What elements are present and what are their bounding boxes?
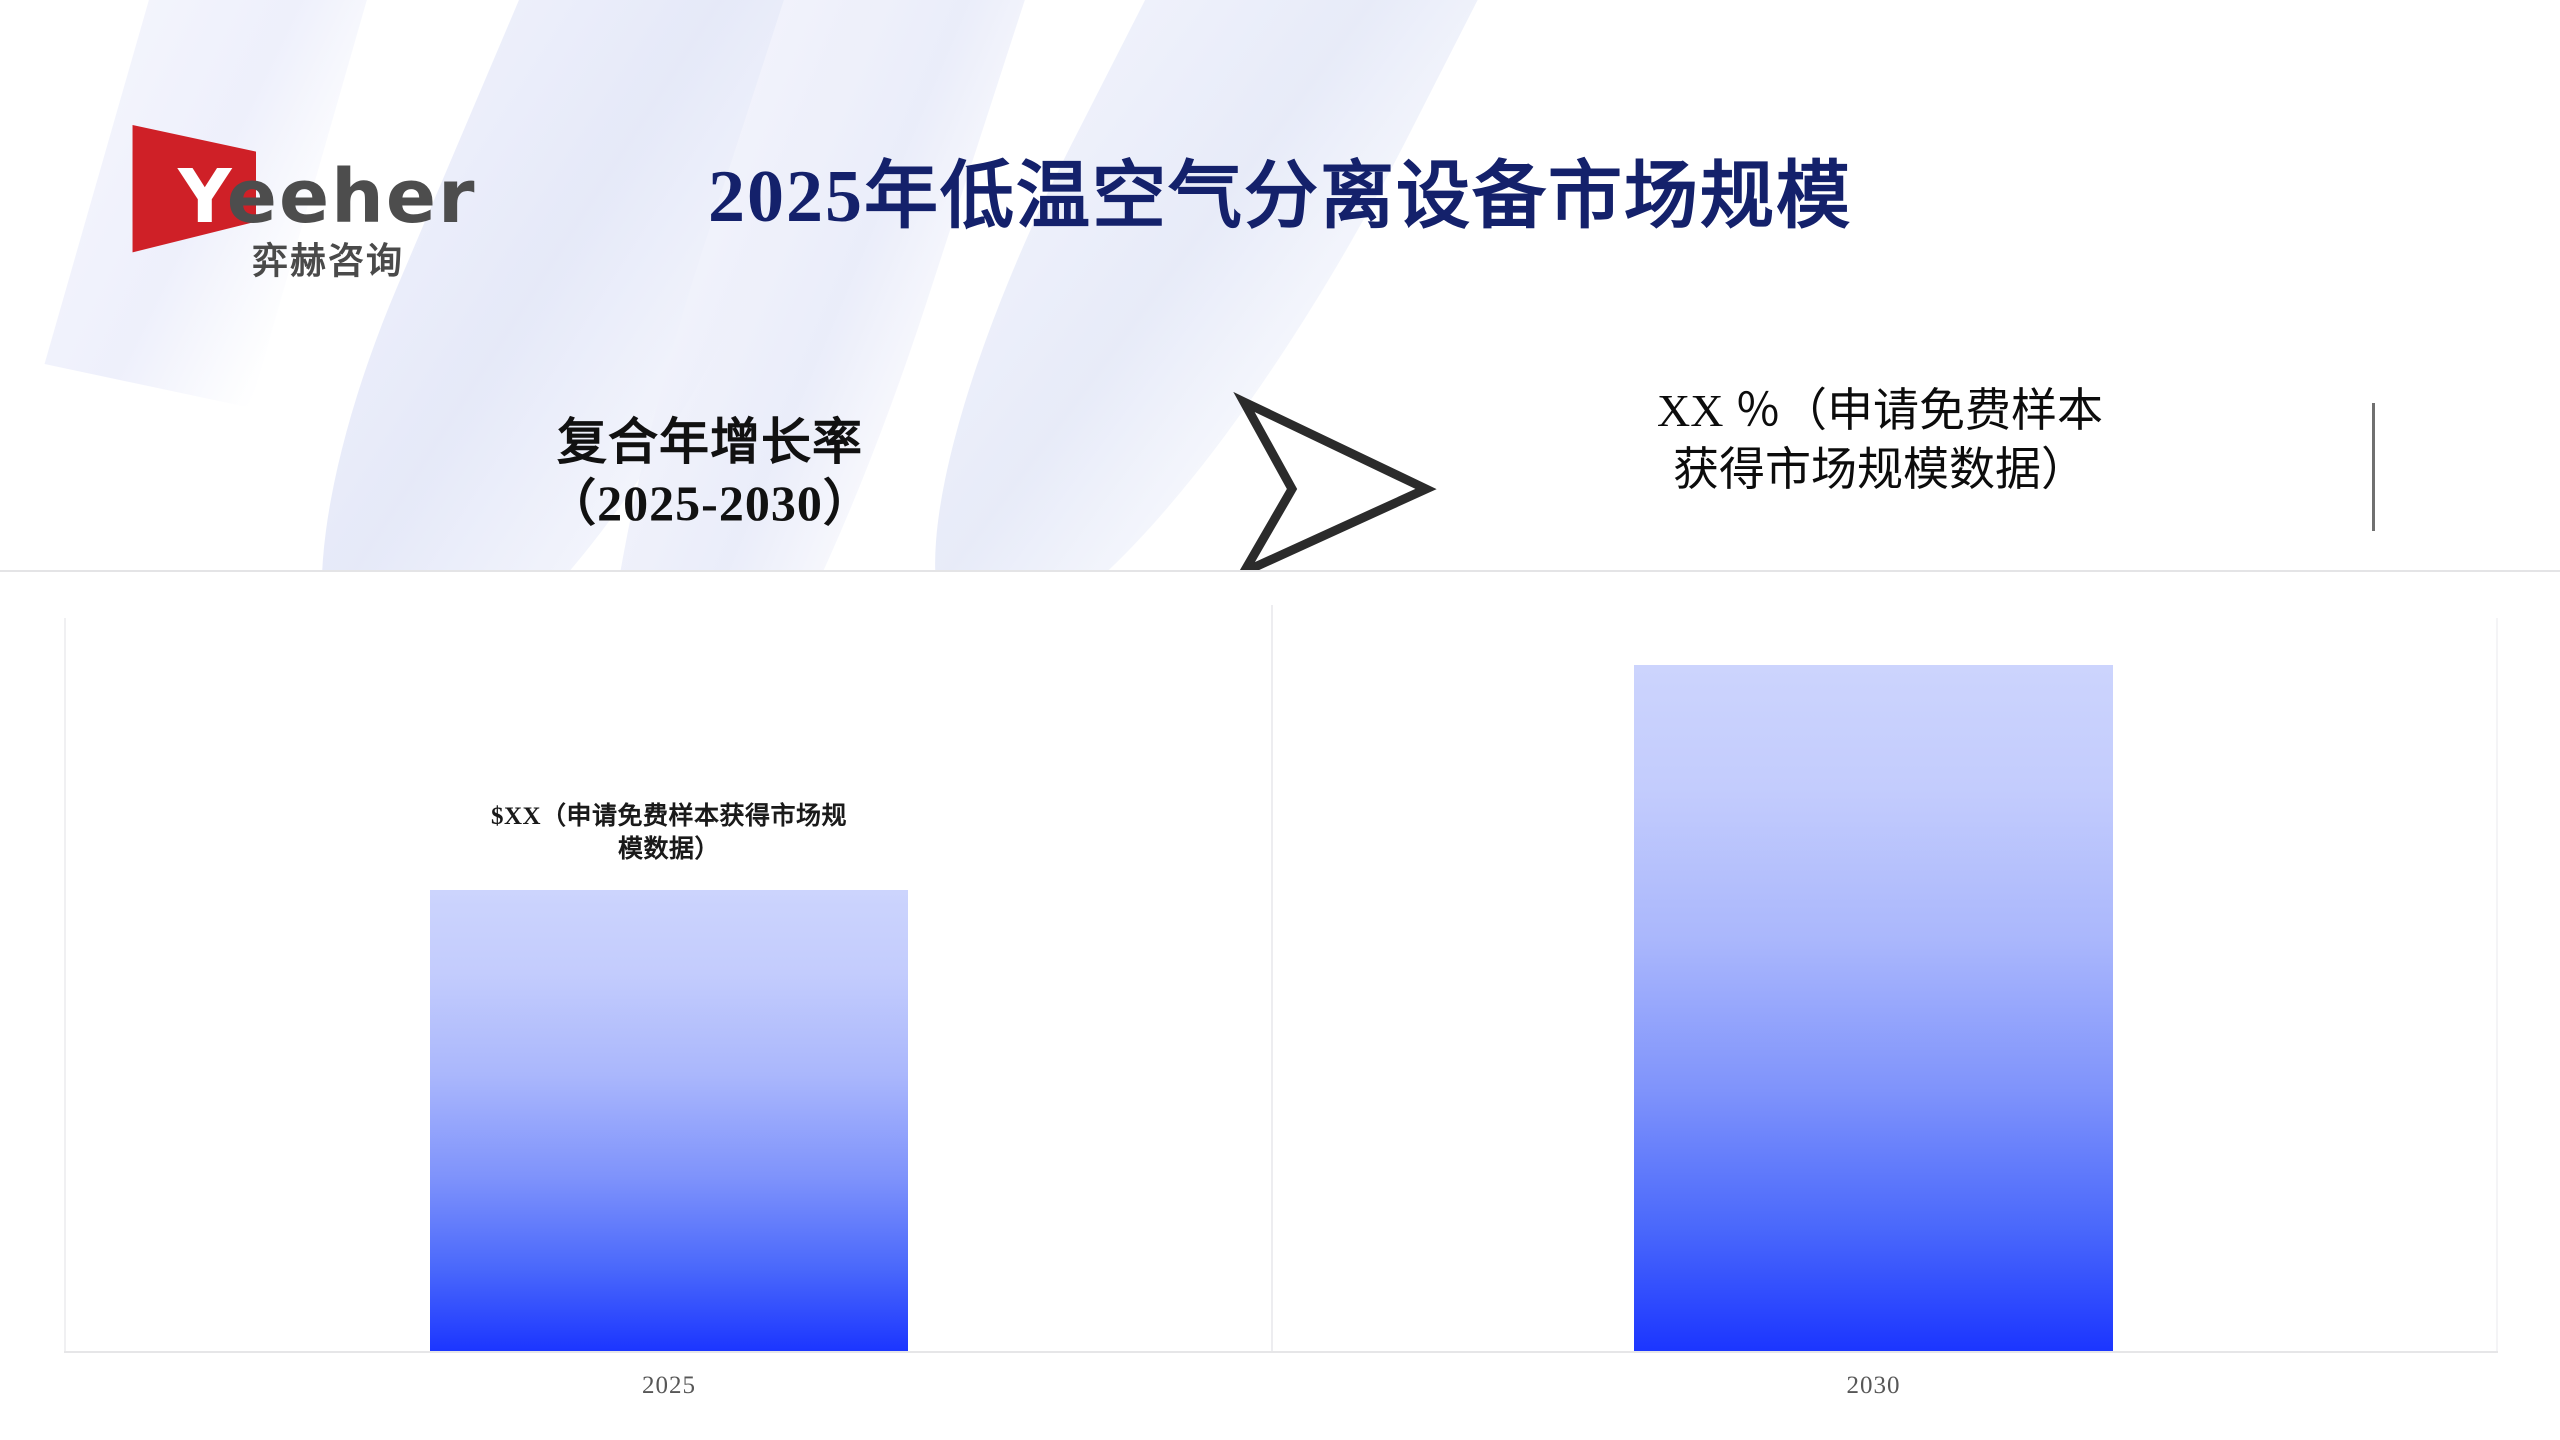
x-tick-2030: 2030 <box>1634 1372 2113 1400</box>
chart-panel-right-border <box>2496 618 2498 1352</box>
chart-panel-left-border <box>64 618 66 1352</box>
x-tick-2025: 2025 <box>430 1372 908 1400</box>
vertical-divider <box>2372 403 2375 531</box>
cagr-value-line2: 获得市场规模数据） <box>1580 441 2180 500</box>
arrow-right-icon <box>1230 392 1440 582</box>
cagr-label-line1: 复合年增长率 <box>470 412 950 473</box>
chart-panel-middle-divider <box>1271 605 1273 1353</box>
bar-label-2025: $XX（申请免费样本获得市场规 模数据） <box>430 800 908 866</box>
cagr-label: 复合年增长率 （2025-2030） <box>470 412 950 534</box>
logo-subtitle: 弈赫咨询 <box>252 244 404 280</box>
bar-2025 <box>430 890 908 1352</box>
bar-2030 <box>1634 665 2113 1352</box>
page-title: 2025年低温空气分离设备市场规模 <box>0 136 2560 243</box>
bar-label-2025-line1: $XX（申请免费样本获得市场规 <box>430 800 908 833</box>
bar-chart: $XX（申请免费样本获得市场规 模数据） 2025 2030 <box>0 572 2560 1440</box>
arrow-right-svg <box>1230 392 1440 582</box>
cagr-value-text: XX ％（申请免费样本 获得市场规模数据） <box>1580 382 2180 500</box>
slide-canvas: Yeeher 弈赫咨询 2025年低温空气分离设备市场规模 复合年增长率 （20… <box>0 0 2560 1440</box>
bar-label-2025-line2: 模数据） <box>430 833 908 866</box>
cagr-label-line2: （2025-2030） <box>470 473 950 534</box>
chart-axis-line <box>64 1351 2498 1353</box>
cagr-value-line1: XX ％（申请免费样本 <box>1580 382 2180 441</box>
